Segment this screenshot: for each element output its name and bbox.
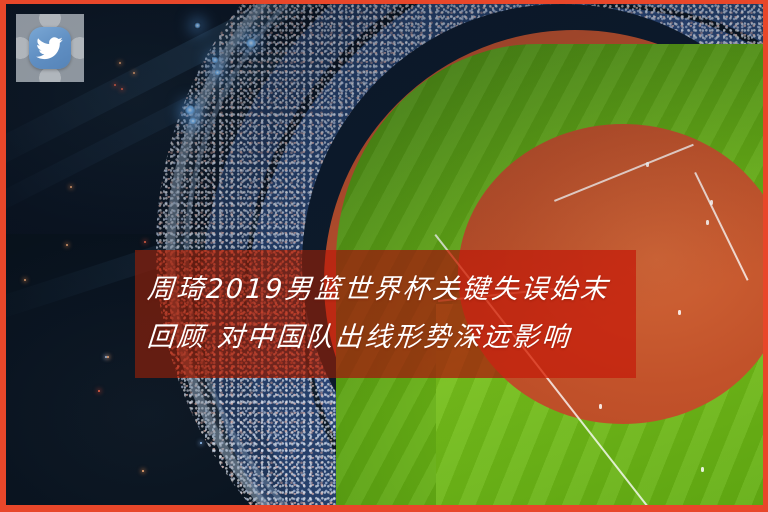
player-figure [710, 200, 713, 205]
stadium-light-icon [214, 69, 221, 76]
city-light [24, 279, 26, 281]
stadium-light-icon [184, 104, 196, 116]
player-figure [706, 220, 709, 225]
player-figure [701, 467, 704, 472]
stadium-light-icon [245, 37, 257, 49]
city-light [70, 186, 72, 188]
player-figure [599, 404, 602, 409]
city-light [66, 244, 68, 246]
city-light [121, 88, 123, 90]
city-light [107, 356, 109, 358]
caption-line-1: 周琦2019男篮世界杯关键失误始末 [145, 268, 610, 312]
city-light [142, 470, 144, 472]
city-light [133, 72, 135, 74]
city-light [98, 390, 100, 392]
stadium-light-icon [189, 117, 197, 125]
image-frame: 周琦2019男篮世界杯关键失误始末 回顾 对中国队出线形势深远影响 [0, 0, 768, 512]
player-figure [646, 162, 649, 167]
twitter-watermark[interactable] [16, 14, 84, 82]
stadium-light-icon [194, 22, 201, 29]
twitter-bird-icon [35, 34, 65, 62]
stadium-light-icon [211, 56, 219, 64]
city-light [119, 62, 121, 64]
city-light [200, 442, 202, 444]
caption-line-2: 回顾 对中国队出线形势深远影响 [145, 316, 572, 360]
city-light [144, 241, 146, 243]
caption-banner: 周琦2019男篮世界杯关键失误始末 回顾 对中国队出线形势深远影响 [135, 250, 636, 378]
player-figure [678, 310, 681, 315]
city-light [114, 84, 116, 86]
